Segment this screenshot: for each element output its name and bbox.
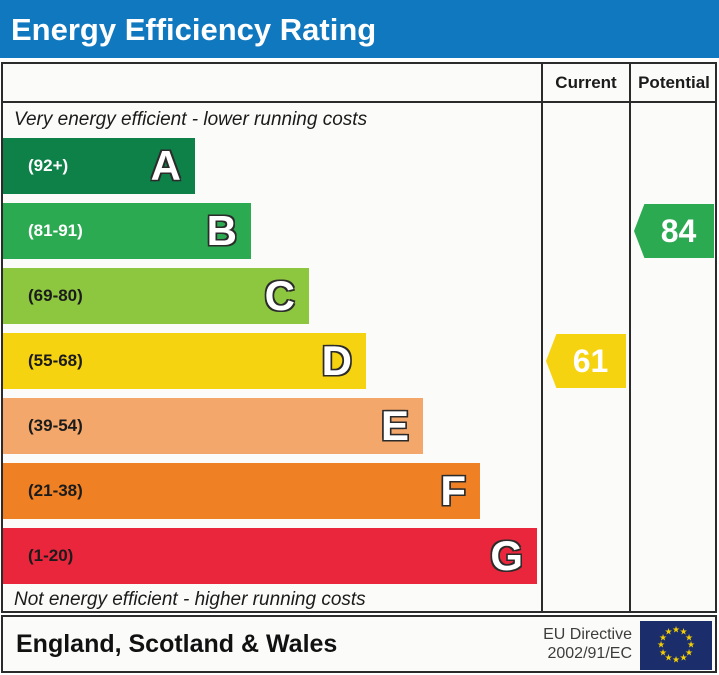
column-header-potential: Potential (631, 64, 717, 101)
band-range-label-b: (81-91) (3, 221, 83, 241)
eu-flag-icon: ★★★★★★★★★★★★ (640, 621, 712, 670)
band-letter-g: G (490, 535, 523, 577)
potential-rating-value: 84 (652, 215, 697, 247)
band-range-label-g: (1-20) (3, 546, 73, 566)
current-rating-value: 61 (564, 345, 609, 377)
current-column-divider (541, 62, 543, 613)
band-range-label-d: (55-68) (3, 351, 83, 371)
rating-band-d: (55-68)D (3, 333, 366, 389)
band-range-label-c: (69-80) (3, 286, 83, 306)
eu-flag-star: ★ (664, 628, 672, 637)
eu-directive-text: EU Directive 2002/91/EC (543, 626, 640, 664)
eu-flag-star: ★ (672, 656, 680, 665)
potential-column-divider (629, 62, 631, 613)
eu-directive-block: EU Directive 2002/91/EC ★★★★★★★★★★★★ (543, 620, 712, 670)
header-row-divider (1, 101, 717, 103)
band-letter-a: A (151, 145, 181, 187)
band-letter-d: D (322, 340, 352, 382)
band-range-label-a: (92+) (3, 156, 68, 176)
current-rating-marker: 61 (546, 334, 626, 388)
chart-header-banner: Energy Efficiency Rating (0, 0, 719, 58)
rating-band-a: (92+)A (3, 138, 195, 194)
column-header-current: Current (543, 64, 629, 101)
rating-band-g: (1-20)G (3, 528, 537, 584)
footer-region-label: England, Scotland & Wales (3, 630, 337, 659)
eu-directive-line1: EU Directive (543, 626, 632, 645)
band-range-label-e: (39-54) (3, 416, 83, 436)
band-range-label-f: (21-38) (3, 481, 83, 501)
rating-band-c: (69-80)C (3, 268, 309, 324)
band-letter-b: B (207, 210, 237, 252)
energy-efficiency-rating-certificate: Energy Efficiency Rating Current Potenti… (0, 0, 719, 675)
eu-directive-line2: 2002/91/EC (543, 645, 632, 664)
rating-band-f: (21-38)F (3, 463, 480, 519)
potential-rating-marker: 84 (634, 204, 714, 258)
band-letter-e: E (381, 405, 409, 447)
page-title: Energy Efficiency Rating (0, 14, 376, 45)
band-letter-c: C (265, 275, 295, 317)
rating-band-e: (39-54)E (3, 398, 423, 454)
rating-band-b: (81-91)B (3, 203, 251, 259)
caption-very-efficient: Very energy efficient - lower running co… (14, 109, 367, 131)
caption-not-efficient: Not energy efficient - higher running co… (14, 589, 366, 611)
band-letter-f: F (440, 470, 466, 512)
certificate-footer: England, Scotland & Wales EU Directive 2… (1, 615, 717, 673)
eu-flag-star: ★ (679, 653, 687, 662)
